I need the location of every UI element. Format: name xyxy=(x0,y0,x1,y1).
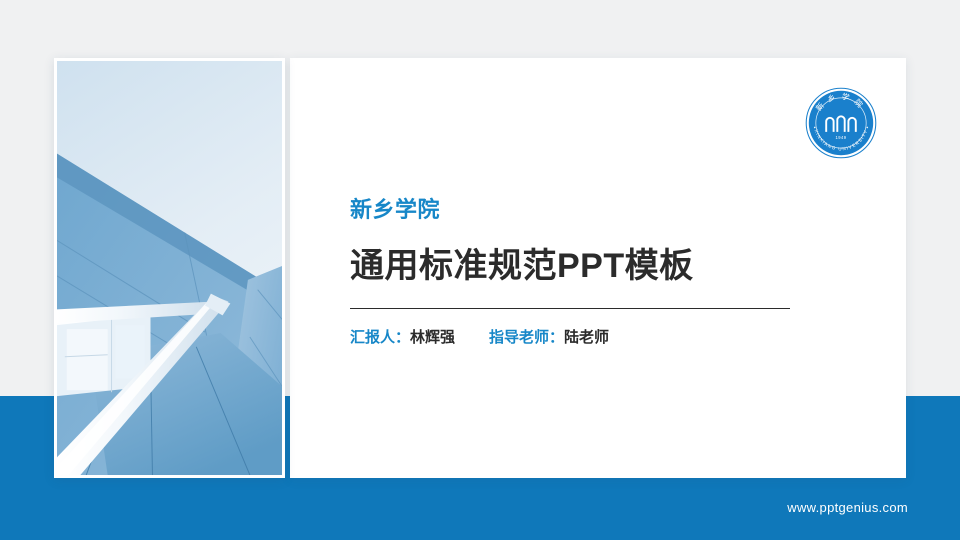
presentation-slide: 新乡学院 XINXIANG UNIVERSITY 1949 新乡学院 通用标准规… xyxy=(0,0,960,540)
seal-year: 1949 xyxy=(836,135,847,140)
page-title: 通用标准规范PPT模板 xyxy=(350,246,810,287)
subject-line: 新乡学院 xyxy=(350,196,810,224)
advisor-label: 指导老师： xyxy=(489,329,564,346)
site-watermark: www.pptgenius.com xyxy=(787,500,908,515)
architecture-photo xyxy=(54,58,285,478)
university-logo: 新乡学院 XINXIANG UNIVERSITY 1949 xyxy=(804,86,878,160)
advisor-name: 陆老师 xyxy=(564,329,609,346)
presenter-label: 汇报人： xyxy=(350,329,410,346)
title-divider xyxy=(350,308,790,309)
presenter-name: 林辉强 xyxy=(410,329,455,346)
title-block: 新乡学院 通用标准规范PPT模板 汇报人：林辉强指导老师：陆老师 xyxy=(350,196,810,347)
byline-row: 汇报人：林辉强指导老师：陆老师 xyxy=(350,326,810,347)
photo-image xyxy=(57,61,282,475)
